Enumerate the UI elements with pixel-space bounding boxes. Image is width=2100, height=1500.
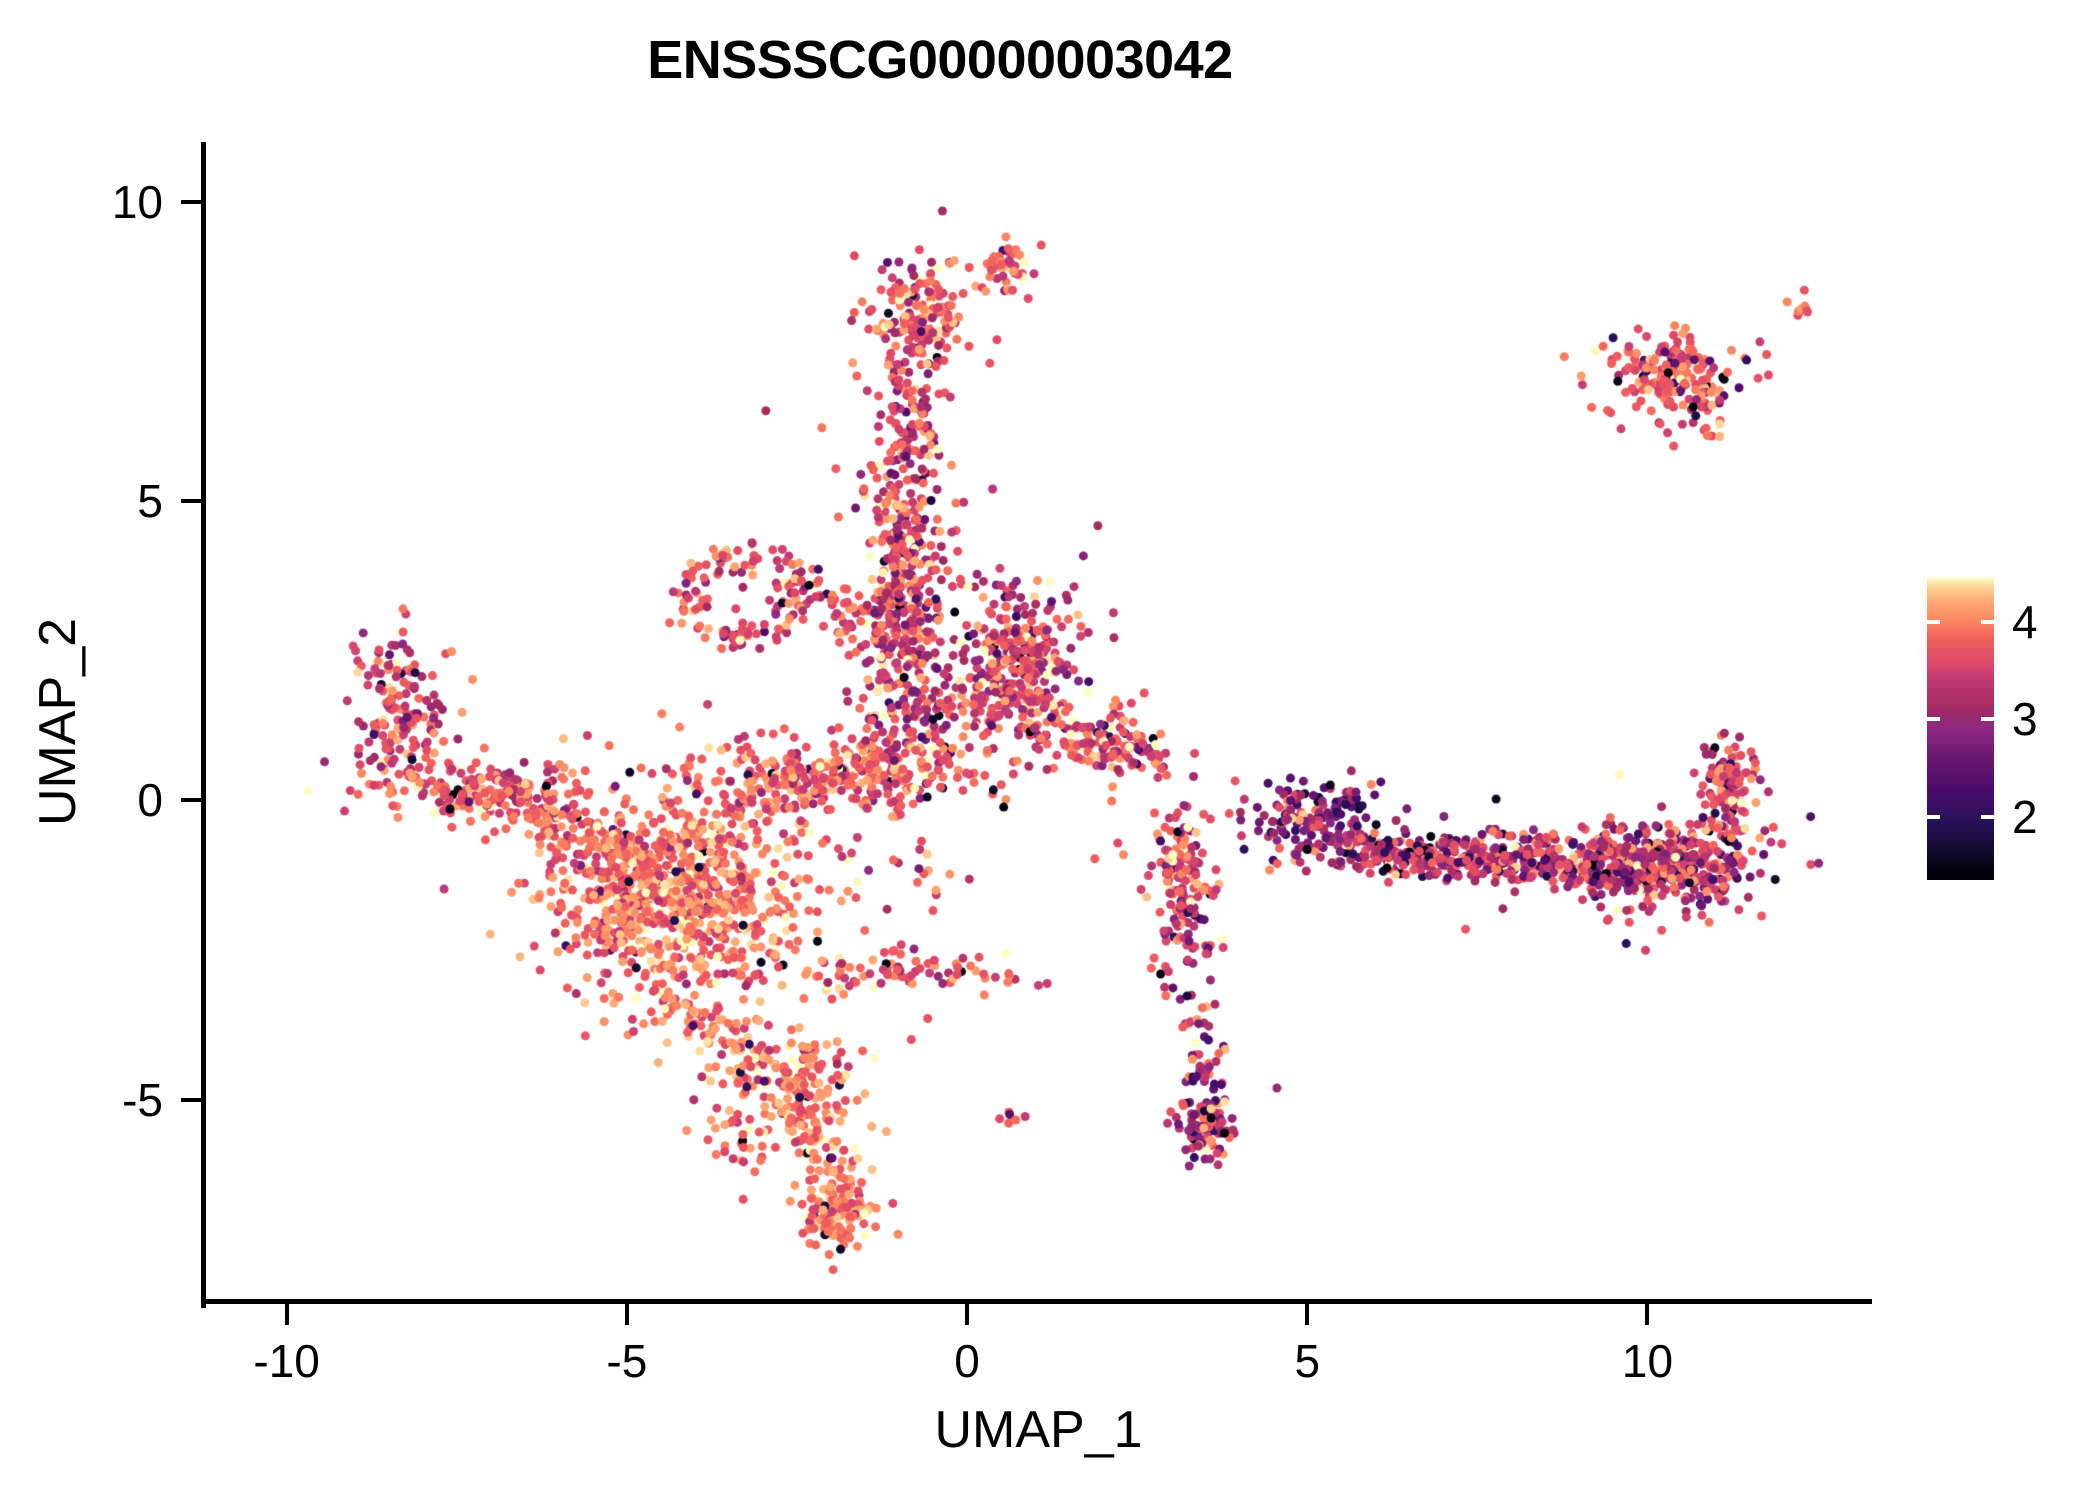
scatter-plot-canvas	[205, 142, 1872, 1303]
page-title: ENSSSCG00000003042	[0, 28, 1880, 92]
x-axis-ticklabel: -5	[537, 1335, 717, 1387]
colorbar-tick-mark	[1981, 717, 1994, 721]
umap-figure: ENSSSCG00000003042 1050-5 -10-50510 UMAP…	[0, 0, 2100, 1500]
y-axis-line	[201, 142, 206, 1308]
y-axis-tick	[181, 1098, 203, 1102]
colorbar-tick-mark	[1927, 717, 1940, 721]
x-axis-ticklabel: 5	[1217, 1335, 1397, 1387]
y-axis-tick	[181, 499, 203, 503]
y-axis-tick	[181, 798, 203, 802]
y-axis-ticklabel: 10	[13, 179, 163, 225]
y-axis-tick	[181, 200, 203, 204]
colorbar-ticklabel: 4	[2012, 599, 2092, 645]
colorbar-ticklabel: 3	[2012, 696, 2092, 742]
colorbar-tick-mark	[1927, 620, 1940, 624]
colorbar-ticklabel: 2	[2012, 794, 2092, 840]
y-axis-title: UMAP_2	[28, 342, 88, 1102]
x-axis-line	[201, 1299, 1872, 1304]
x-axis-title: UMAP_1	[205, 1400, 1872, 1460]
x-axis-tick	[1645, 1303, 1649, 1325]
x-axis-tick	[625, 1303, 629, 1325]
x-axis-tick	[1305, 1303, 1309, 1325]
colorbar-legend: 432	[1927, 578, 2087, 880]
x-axis-tick	[965, 1303, 969, 1325]
colorbar-tick-mark	[1927, 815, 1940, 819]
colorbar-tick-mark	[1981, 620, 1994, 624]
x-axis-ticklabel: -10	[197, 1335, 377, 1387]
x-axis-ticklabel: 0	[877, 1335, 1057, 1387]
colorbar-tick-mark	[1981, 815, 1994, 819]
plot-panel	[205, 142, 1872, 1303]
x-axis-ticklabel: 10	[1557, 1335, 1737, 1387]
x-axis-tick	[285, 1303, 289, 1325]
